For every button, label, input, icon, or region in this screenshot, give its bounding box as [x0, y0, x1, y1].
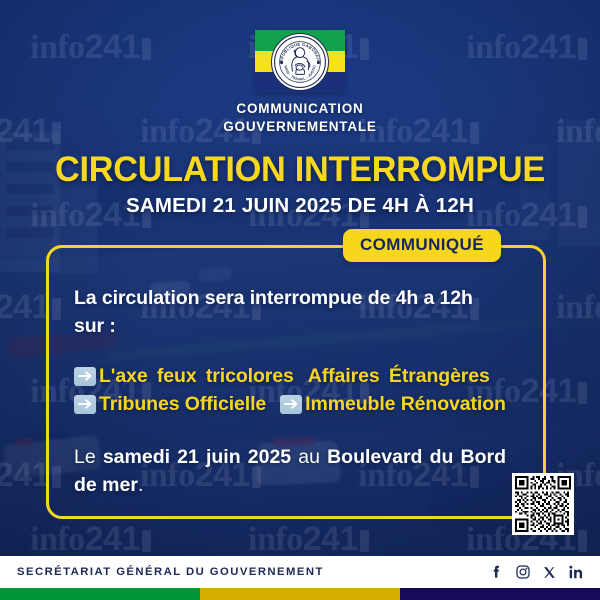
lead-paragraph: La circulation sera interrompue de 4h a … [74, 284, 526, 341]
tail-text-1: Le [74, 446, 103, 468]
list-item: Tribunes Officielle Immeuble Rénovation [74, 393, 526, 416]
department-line-1: COMMUNICATION [0, 100, 600, 118]
lead-start-time: 4h [396, 287, 419, 309]
department-line-2: GOUVERNEMENTALE [0, 118, 600, 136]
arrow-right-icon [280, 395, 302, 414]
lead-end-time: 12h [440, 287, 473, 309]
page-title: CIRCULATION INTERROMPUE [6, 150, 594, 190]
list-item-label: Immeuble Rénovation [305, 393, 506, 416]
affected-roads-list: L'axe feux tricolores Affaires Étrangère… [74, 365, 526, 416]
linkedin-icon[interactable] [569, 565, 583, 579]
lead-line-2: sur : [74, 315, 116, 337]
stripe-navy [400, 588, 600, 600]
status-badge: COMMUNIQUÉ [343, 229, 501, 262]
list-item-label: Tribunes Officielle [99, 393, 266, 416]
gabon-tricolor-stripe [0, 588, 600, 600]
stripe-green [0, 588, 200, 600]
arrow-right-icon [74, 367, 96, 386]
page-subtitle: SAMEDI 21 JUIN 2025 DE 4H À 12H [0, 194, 600, 218]
list-item-label: L'axe feux tricolores [99, 365, 294, 388]
coat-of-arms-seal: REPUBLIQUE GABONAISE UNION - TRAVAIL - J… [271, 33, 329, 91]
tail-text-2: au [291, 446, 327, 468]
arrow-right-icon [74, 395, 96, 414]
footer-organization: SECRÉTARIAT GÉNÉRAL DU GOUVERNEMENT [17, 566, 324, 578]
qr-code[interactable] [512, 473, 574, 535]
facebook-icon[interactable] [490, 565, 503, 579]
department-title: COMMUNICATION GOUVERNEMENTALE [0, 100, 600, 136]
lead-text-2: a [418, 287, 439, 309]
x-twitter-icon[interactable] [543, 566, 556, 579]
communique-body: La circulation sera interrompue de 4h a … [74, 284, 526, 499]
closing-paragraph: Le samedi 21 juin 2025 au Boulevard du B… [74, 444, 506, 499]
stripe-gold [200, 588, 400, 600]
list-item-label: Affaires Étrangères [308, 365, 490, 388]
communique-poster: info241info241info241info241info241info2… [0, 0, 600, 600]
lead-text-1: La circulation sera interrompue de [74, 287, 396, 309]
instagram-icon[interactable] [516, 565, 530, 579]
footer-bar: SECRÉTARIAT GÉNÉRAL DU GOUVERNEMENT [0, 556, 600, 588]
event-date: samedi 21 juin 2025 [103, 446, 291, 468]
gabon-flag-coat-of-arms-icon: REPUBLIQUE GABONAISE UNION - TRAVAIL - J… [255, 30, 345, 93]
list-item: L'axe feux tricolores Affaires Étrangère… [74, 365, 526, 388]
tail-text-3: . [138, 474, 143, 496]
social-links [490, 565, 583, 579]
